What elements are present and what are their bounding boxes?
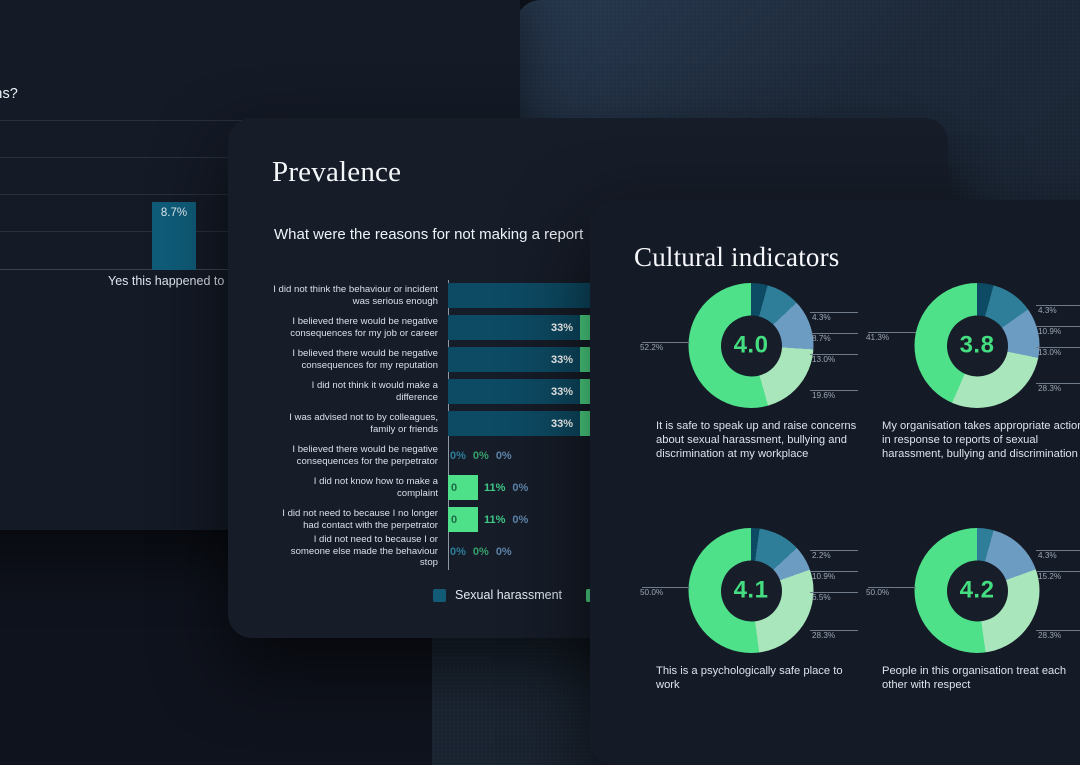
zero-label: 0% — [496, 546, 512, 558]
donut-slice-label: 13.0% — [1038, 348, 1061, 357]
donut-slice-label: 10.9% — [812, 572, 835, 581]
donut-score: 3.8 — [960, 332, 995, 360]
bar-segment-bullying[interactable]: 0 — [448, 507, 478, 532]
donut-slice-label: 28.3% — [1038, 384, 1061, 393]
donut-center: 3.8 — [947, 315, 1008, 376]
donut-card-treat-with-respect[interactable]: 4.2 50.0% 4.3% 15.2% 28.3% People in thi… — [864, 525, 1080, 692]
bar-segment-bullying[interactable]: 0 — [448, 475, 478, 500]
legend-item-sexual-harassment[interactable]: Sexual harassment — [433, 588, 562, 602]
zero-label: 11% — [484, 514, 505, 526]
cultural-indicators-panel[interactable]: Cultural indicators 4.0 52.2% 4.3% 8.7% — [590, 200, 1080, 765]
zero-label: 0% — [473, 546, 489, 558]
donut-card-appropriate-action[interactable]: 3.8 41.3% 4.3% 10.9% 13.0% 28.3% 47.8% — [864, 280, 1080, 461]
donut-chart-wrapper: 4.0 52.2% 4.3% 8.7% 13.0% 19.6% — [638, 280, 864, 415]
donut-center: 4.2 — [947, 560, 1008, 621]
zero-value-labels: 0% 0% 0% — [450, 443, 512, 468]
donut-chart-wrapper: 3.8 41.3% 4.3% 10.9% 13.0% 28.3% 47.8% — [864, 280, 1080, 415]
donut-score: 4.1 — [734, 577, 769, 605]
donut-score: 4.2 — [960, 577, 995, 605]
donut-slice-label: 50.0% — [640, 588, 663, 597]
bar-sexual-harassment-g1[interactable]: 8.7% — [152, 202, 196, 270]
zero-label: 0% — [496, 450, 512, 462]
donut-slice-label: 4.3% — [1038, 306, 1057, 315]
donut-slice-label: 8.7% — [812, 334, 831, 343]
donut-caption: This is a psychologically safe place to … — [656, 664, 861, 692]
donut-slice-label: 2.2% — [812, 551, 831, 560]
row-label: I did not need to because I or someone e… — [272, 534, 448, 568]
donut-slice-label: 50.0% — [866, 588, 889, 597]
donut-card-safe-to-speak-up[interactable]: 4.0 52.2% 4.3% 8.7% 13.0% 19.6% It is sa… — [638, 280, 864, 461]
donut-caption: It is safe to speak up and raise concern… — [656, 419, 861, 461]
donut-chart[interactable]: 4.1 — [689, 528, 814, 653]
donut-slice-label: 4.3% — [1038, 551, 1057, 560]
donut-slice-label: 10.9% — [1038, 327, 1061, 336]
donut-slice-label: 6.5% — [812, 593, 831, 602]
donut-caption: My organisation takes appropriate action… — [882, 419, 1080, 461]
zero-value-labels: 11% 0% — [484, 475, 528, 500]
zero-label: 0% — [450, 450, 466, 462]
legend-swatch-icon — [433, 589, 446, 602]
bar-segment-sexual-harassment[interactable]: 33% — [448, 347, 580, 372]
donut-slice-label: 41.3% — [866, 333, 889, 342]
row-label: I was advised not to by colleagues, fami… — [272, 412, 448, 435]
donut-center: 4.1 — [721, 560, 782, 621]
donut-chart-wrapper: 4.1 50.0% 2.2% 10.9% 6.5% 28.3% — [638, 525, 864, 660]
zero-label: 0% — [450, 546, 466, 558]
bar-segment-sexual-harassment[interactable]: 33% — [448, 379, 580, 404]
donut-slice-label: 13.0% — [812, 355, 835, 364]
donut-chart[interactable]: 4.2 — [915, 528, 1040, 653]
row-label: I did not think the behaviour or inciden… — [272, 284, 448, 307]
x-axis-category-1: Yes this happened to so — [108, 274, 241, 288]
page-title-prevalence: Prevalence — [272, 156, 401, 189]
zero-value-labels: 0% 0% 0% — [450, 539, 512, 564]
zero-label: 0% — [473, 450, 489, 462]
zero-value-labels: 11% 0% — [484, 507, 528, 532]
zero-label: 11% — [484, 482, 505, 494]
donut-slice-label: 52.2% — [640, 343, 663, 352]
row-label: I did not know how to make a complaint — [272, 476, 448, 499]
donut-chart[interactable]: 4.0 — [689, 283, 814, 408]
zero-label: 0% — [512, 482, 528, 494]
donut-slice-label: 28.3% — [812, 631, 835, 640]
donut-slice-label: 19.6% — [812, 391, 835, 400]
donut-score: 4.0 — [734, 332, 769, 360]
bar-segment-sexual-harassment[interactable]: 33% — [448, 411, 580, 436]
donut-caption: People in this organisation treat each o… — [882, 664, 1080, 692]
bar-value-label: 8.7% — [161, 207, 187, 219]
bar-chart-question: d the following at work in the last 12 m… — [0, 86, 504, 102]
zero-label: 0% — [512, 514, 528, 526]
donut-slice-label: 15.2% — [1038, 572, 1061, 581]
legend-label: Sexual harassment — [455, 588, 562, 602]
donut-chart[interactable]: 3.8 — [915, 283, 1040, 408]
row-label: I believed there would be negative conse… — [272, 316, 448, 339]
donut-center: 4.0 — [721, 315, 782, 376]
donut-card-psychologically-safe[interactable]: 4.1 50.0% 2.2% 10.9% 6.5% 28.3% This is … — [638, 525, 864, 692]
row-label: I believed there would be negative conse… — [272, 444, 448, 467]
row-label: I did not need to because I no longer ha… — [272, 508, 448, 531]
row-label: I believed there would be negative conse… — [272, 348, 448, 371]
donut-chart-wrapper: 4.2 50.0% 4.3% 15.2% 28.3% — [864, 525, 1080, 660]
donut-slice-label: 4.3% — [812, 313, 831, 322]
screenshot-stage: d the following at work in the last 12 m… — [0, 0, 1080, 765]
donut-slice-label: 28.3% — [1038, 631, 1061, 640]
row-label: I did not think it would make a differen… — [272, 380, 448, 403]
page-title-cultural-indicators: Cultural indicators — [634, 242, 840, 273]
bar-segment-sexual-harassment[interactable]: 33% — [448, 315, 580, 340]
